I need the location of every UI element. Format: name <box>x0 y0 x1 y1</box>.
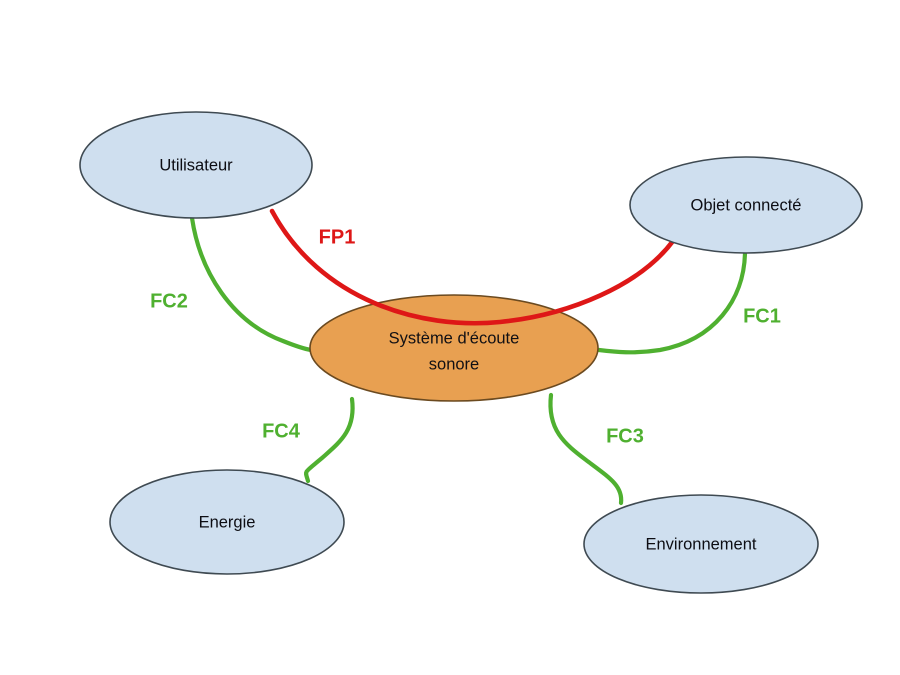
link-label-fp1: FP1 <box>319 226 356 248</box>
node-systeme-label-line1: Système d'écoute <box>389 329 520 347</box>
link-group-fc1 <box>599 253 745 352</box>
node-objet-connecte-label: Objet connecté <box>691 196 802 214</box>
node-environnement[interactable]: Environnement <box>584 495 818 593</box>
node-utilisateur-label: Utilisateur <box>159 156 233 174</box>
node-energie[interactable]: Energie <box>110 470 344 574</box>
link-label-fc2: FC2 <box>150 290 188 312</box>
link-curve-fc4[interactable] <box>306 399 353 481</box>
node-environnement-label: Environnement <box>646 535 757 553</box>
node-utilisateur[interactable]: Utilisateur <box>80 112 312 218</box>
link-label-fc3: FC3 <box>606 425 644 447</box>
link-curve-fc1[interactable] <box>599 253 745 352</box>
pieuvre-diagram: Système d'écoute sonore Utilisateur Obje… <box>0 0 900 675</box>
link-curve-fc3[interactable] <box>550 395 621 503</box>
link-curve-fc2[interactable] <box>192 218 311 350</box>
link-group-fc4 <box>306 399 353 481</box>
link-group-fc3 <box>550 395 621 503</box>
link-group-fc2 <box>192 218 311 350</box>
link-label-fc4: FC4 <box>262 420 301 442</box>
diagram-canvas: Système d'écoute sonore Utilisateur Obje… <box>0 0 900 675</box>
node-objet-connecte[interactable]: Objet connecté <box>630 157 862 253</box>
node-systeme-label-line2: sonore <box>429 355 479 373</box>
node-energie-label: Energie <box>199 513 256 531</box>
link-label-fc1: FC1 <box>743 305 781 327</box>
